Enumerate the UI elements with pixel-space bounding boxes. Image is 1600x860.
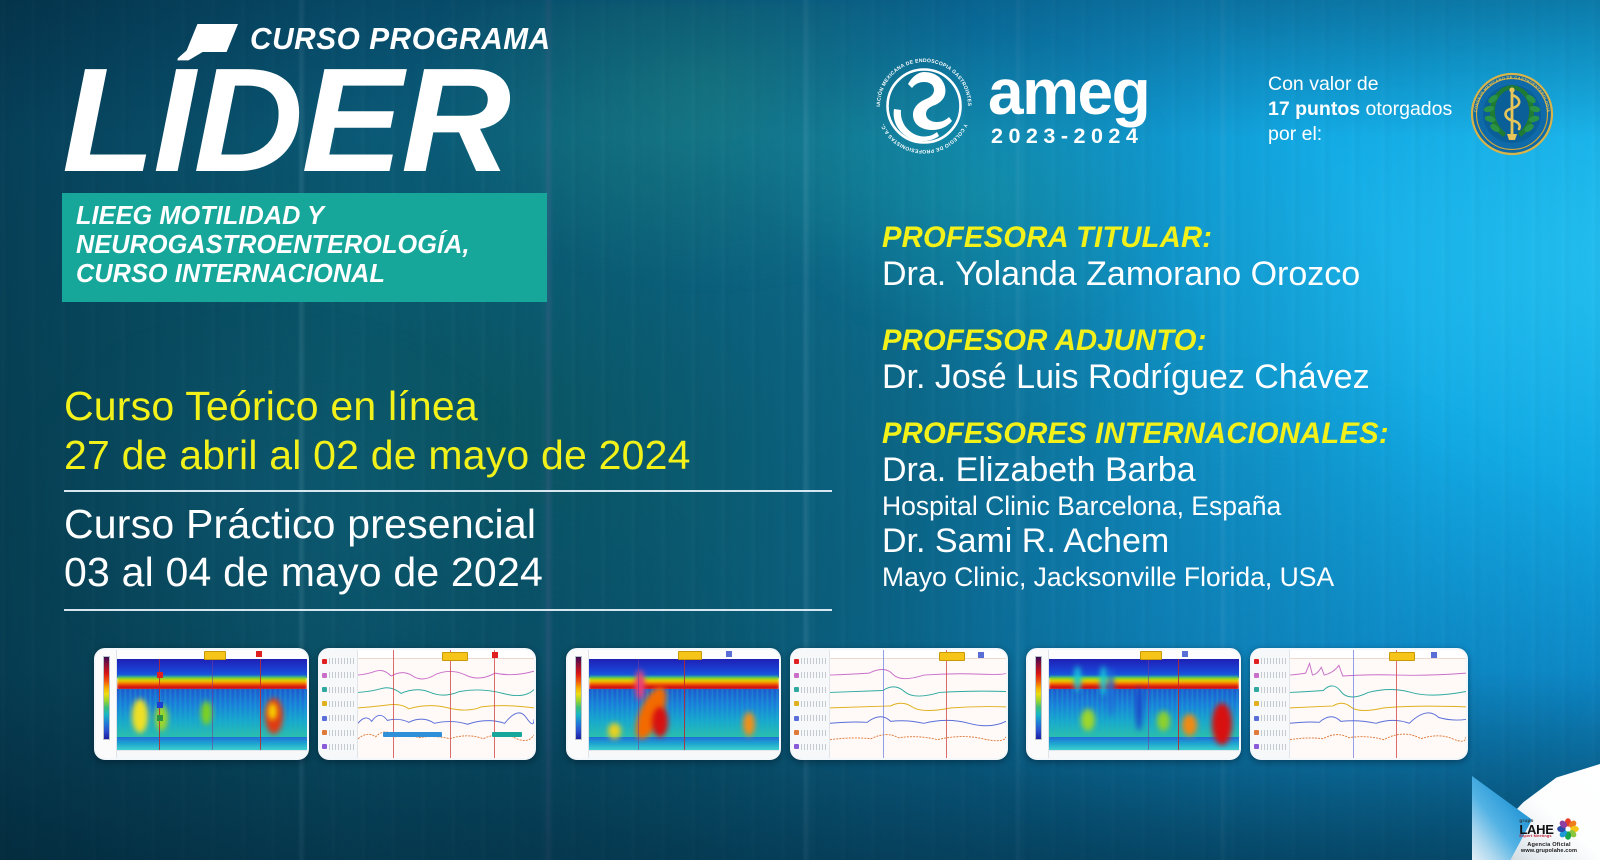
faculty-block: PROFESORA TITULAR: Dra. Yolanda Zamorano… xyxy=(882,222,1582,593)
channel-ticks xyxy=(801,701,827,707)
channel-ticks xyxy=(1261,687,1287,693)
subtitle-line-2: NEUROGASTROENTEROLOGÍA, xyxy=(76,231,528,260)
event-marker xyxy=(978,652,984,658)
faculty-spacer-1 xyxy=(882,295,1582,325)
color-scale-bar-icon xyxy=(1035,656,1042,740)
topography-plot-1 xyxy=(117,650,307,758)
cursor-line xyxy=(212,659,213,751)
thumbnail-manometry-topography-1[interactable] xyxy=(94,648,309,760)
agency-mark: grupo LAHE Expert Meetings xyxy=(1503,818,1595,840)
pressure-color-scale-2 xyxy=(568,650,589,758)
agency-tagline: Expert Meetings xyxy=(1519,835,1553,839)
channel-ticks xyxy=(329,658,355,664)
cursor-line xyxy=(1148,659,1149,751)
ameg-stomach-seal-icon: ASOCIACIÓN MEXICANA DE ENDOSCOPIA GASTRO… xyxy=(866,48,982,164)
channel-swatch xyxy=(322,701,327,706)
page-title: LÍDER xyxy=(62,60,598,181)
channel-ticks xyxy=(801,687,827,693)
channel-ticks xyxy=(801,730,827,736)
thumbnail-ph-impedance-trace-2[interactable] xyxy=(790,648,1008,760)
ameg-wordmark: ameg xyxy=(988,65,1149,120)
swallow-tag xyxy=(442,652,468,661)
cursor-line xyxy=(1353,650,1354,758)
faculty-international-affil-1: Hospital Clinic Barcelona, España xyxy=(882,491,1582,522)
channel-swatch xyxy=(1254,687,1259,692)
pressure-color-scale-3 xyxy=(1028,650,1049,758)
channel-swatch xyxy=(794,716,799,721)
swallow-tag xyxy=(1389,652,1415,661)
channel-ticks xyxy=(1261,715,1287,721)
ameg-logo: ASOCIACIÓN MEXICANA DE ENDOSCOPIA GASTRO… xyxy=(866,48,1149,164)
swallow-onset-spike xyxy=(1074,666,1081,692)
channel-ticks xyxy=(329,730,355,736)
points-line-1: Con valor de xyxy=(1268,72,1452,97)
channel-swatch xyxy=(1254,730,1259,735)
points-line-2-rest: otorgados xyxy=(1360,98,1452,120)
plot-footer xyxy=(589,750,779,758)
online-course-title: Curso Teórico en línea xyxy=(64,382,844,431)
cursor-line xyxy=(450,650,451,758)
faculty-international-name-2: Dr. Sami R. Achem xyxy=(882,522,1582,561)
channel-ticks xyxy=(801,658,827,664)
dates-block: Curso Teórico en línea 27 de abril al 02… xyxy=(64,382,844,619)
page-curl-corner: grupo LAHE Expert Meetings xyxy=(1472,764,1600,860)
channel-ticks xyxy=(801,715,827,721)
online-course-dates: Curso Teórico en línea 27 de abril al 02… xyxy=(64,382,844,480)
channel-swatch xyxy=(322,687,327,692)
cursor-line xyxy=(494,650,495,758)
points-line-2: 17 puntos otorgados xyxy=(1268,97,1452,122)
faculty-spacer-2 xyxy=(882,398,1582,418)
pressure-color-scale-1 xyxy=(96,650,117,758)
cursor-line xyxy=(883,650,884,758)
faculty-titular-label: PROFESORA TITULAR: xyxy=(882,222,1575,254)
event-marker xyxy=(256,651,262,657)
channel-ticks xyxy=(1261,701,1287,707)
cursor-line xyxy=(684,659,685,751)
channel-ticks xyxy=(1261,744,1287,750)
poster-canvas: CURSO PROGRAMA LÍDER LIEEG MOTILIDAD Y N… xyxy=(0,0,1600,860)
onsite-course-dates: Curso Práctico presencial 03 al 04 de ma… xyxy=(64,500,844,598)
swallow-tag xyxy=(678,651,702,660)
faculty-adjunto-label: PROFESOR ADJUNTO: xyxy=(882,325,1575,357)
reflux-episode-bar xyxy=(383,732,443,737)
channel-ticks xyxy=(801,744,827,750)
event-marker xyxy=(157,702,163,708)
channel-ticks xyxy=(329,715,355,721)
channel-swatch xyxy=(322,673,327,678)
peristaltic-wave xyxy=(652,707,668,737)
cursor-line xyxy=(260,659,261,751)
plot-footer xyxy=(117,750,307,758)
channel-swatch xyxy=(794,687,799,692)
pressure-hotspot xyxy=(1157,711,1170,731)
plot-footer xyxy=(1049,750,1239,758)
channel-label-column-3 xyxy=(1252,650,1290,758)
online-course-range: 27 de abril al 02 de mayo de 2024 xyxy=(64,431,844,480)
swallow-tag xyxy=(204,651,226,660)
points-line-3: por el: xyxy=(1268,122,1452,147)
dates-divider-1 xyxy=(64,490,832,492)
channel-swatch xyxy=(794,744,799,749)
subtitle-line-3: CURSO INTERNACIONAL xyxy=(76,260,528,289)
channel-label-column-2 xyxy=(792,650,830,758)
channel-ticks xyxy=(329,701,355,707)
faculty-titular-name: Dra. Yolanda Zamorano Orozco xyxy=(882,255,1582,294)
thumbnail-manometry-topography-2[interactable] xyxy=(566,648,781,760)
pressure-hotspot xyxy=(743,712,755,736)
event-marker xyxy=(157,672,163,678)
color-scale-bar-icon xyxy=(103,656,110,740)
ameg-years: 2023-2024 xyxy=(991,124,1149,149)
trace-plot-3 xyxy=(1290,650,1466,758)
plot-field xyxy=(1049,659,1239,751)
channel-ticks xyxy=(1261,658,1287,664)
cursor-line xyxy=(393,650,394,758)
channel-swatch xyxy=(794,673,799,678)
lahe-pinwheel-icon xyxy=(1557,818,1579,840)
dates-divider-2 xyxy=(64,609,832,611)
event-marker xyxy=(726,651,732,657)
les-band xyxy=(1049,737,1239,751)
swallow-tag xyxy=(939,652,965,661)
channel-swatch xyxy=(1254,716,1259,721)
channel-swatch xyxy=(322,744,327,749)
thumbnail-ph-impedance-trace-1[interactable] xyxy=(318,648,536,760)
reflux-episode-bar xyxy=(492,732,522,737)
channel-swatch xyxy=(322,730,327,735)
trace-plot-1 xyxy=(358,650,534,758)
event-marker xyxy=(157,715,163,721)
subtitle-box: LIEEG MOTILIDAD Y NEUROGASTROENTEROLOGÍA… xyxy=(62,193,547,301)
cursor-line xyxy=(1178,659,1179,751)
topography-plot-3 xyxy=(1049,650,1239,758)
channel-swatch xyxy=(1254,744,1259,749)
channel-ticks xyxy=(329,687,355,693)
esophageal-body-band xyxy=(1049,689,1239,738)
channel-label-column-1 xyxy=(320,650,358,758)
cursor-line xyxy=(946,650,947,758)
trace-plot-2 xyxy=(830,650,1006,758)
channel-swatch xyxy=(1254,659,1259,664)
topography-plot-2 xyxy=(589,650,779,758)
swallow-onset-spike xyxy=(635,670,645,700)
points-credit-block: Con valor de 17 puntos otorgados por el: xyxy=(1268,68,1558,160)
consejo-mexicano-gastroenterologia-seal-icon: CONSEJO MEXICANO DE GASTROENTEROLOGÍA xyxy=(1466,68,1558,160)
event-marker xyxy=(1182,651,1188,657)
agency-text: grupo LAHE Expert Meetings xyxy=(1519,819,1553,839)
channel-swatch xyxy=(322,716,327,721)
event-marker xyxy=(1431,652,1437,658)
channel-ticks xyxy=(329,672,355,678)
channel-swatch xyxy=(1254,701,1259,706)
channel-swatch xyxy=(794,730,799,735)
event-marker xyxy=(492,652,498,658)
faculty-international-name-1: Dra. Elizabeth Barba xyxy=(882,451,1582,490)
ameg-wordmark-block: ameg 2023-2024 xyxy=(988,65,1149,148)
thumbnail-ph-impedance-trace-3[interactable] xyxy=(1250,648,1468,760)
faculty-adjunto-name: Dr. José Luis Rodríguez Chávez xyxy=(882,358,1582,397)
swallow-onset-spike xyxy=(1108,668,1114,716)
channel-swatch xyxy=(794,701,799,706)
faculty-international-label: PROFESORES INTERNACIONALES: xyxy=(882,418,1575,450)
agency-url[interactable]: www.grupolahe.com xyxy=(1503,848,1595,854)
pressure-hotspot xyxy=(1081,709,1095,731)
channel-swatch xyxy=(794,659,799,664)
color-scale-bar-icon xyxy=(575,656,582,740)
cursor-line xyxy=(638,659,639,751)
points-value: 17 puntos xyxy=(1268,98,1360,120)
thumbnail-manometry-topography-3[interactable] xyxy=(1026,648,1241,760)
swallow-tag xyxy=(1140,651,1162,660)
agency-logo[interactable]: grupo LAHE Expert Meetings xyxy=(1503,818,1595,854)
pressure-hotspot xyxy=(201,701,212,725)
channel-swatch xyxy=(1254,673,1259,678)
faculty-international-affil-2: Mayo Clinic, Jacksonville Florida, USA xyxy=(882,562,1582,593)
channel-swatch xyxy=(322,659,327,664)
channel-ticks xyxy=(801,672,827,678)
points-credit-text: Con valor de 17 puntos otorgados por el: xyxy=(1268,68,1452,147)
onsite-course-title: Curso Práctico presencial xyxy=(64,500,844,549)
channel-ticks xyxy=(1261,730,1287,736)
headline-block: CURSO PROGRAMA LÍDER LIEEG MOTILIDAD Y N… xyxy=(62,18,582,302)
channel-ticks xyxy=(329,744,355,750)
cursor-line xyxy=(1396,650,1397,758)
onsite-course-range: 03 al 04 de mayo de 2024 xyxy=(64,548,844,597)
thumbnail-strip xyxy=(0,648,1600,768)
channel-ticks xyxy=(1261,672,1287,678)
subtitle-line-1: LIEEG MOTILIDAD Y xyxy=(76,202,528,231)
